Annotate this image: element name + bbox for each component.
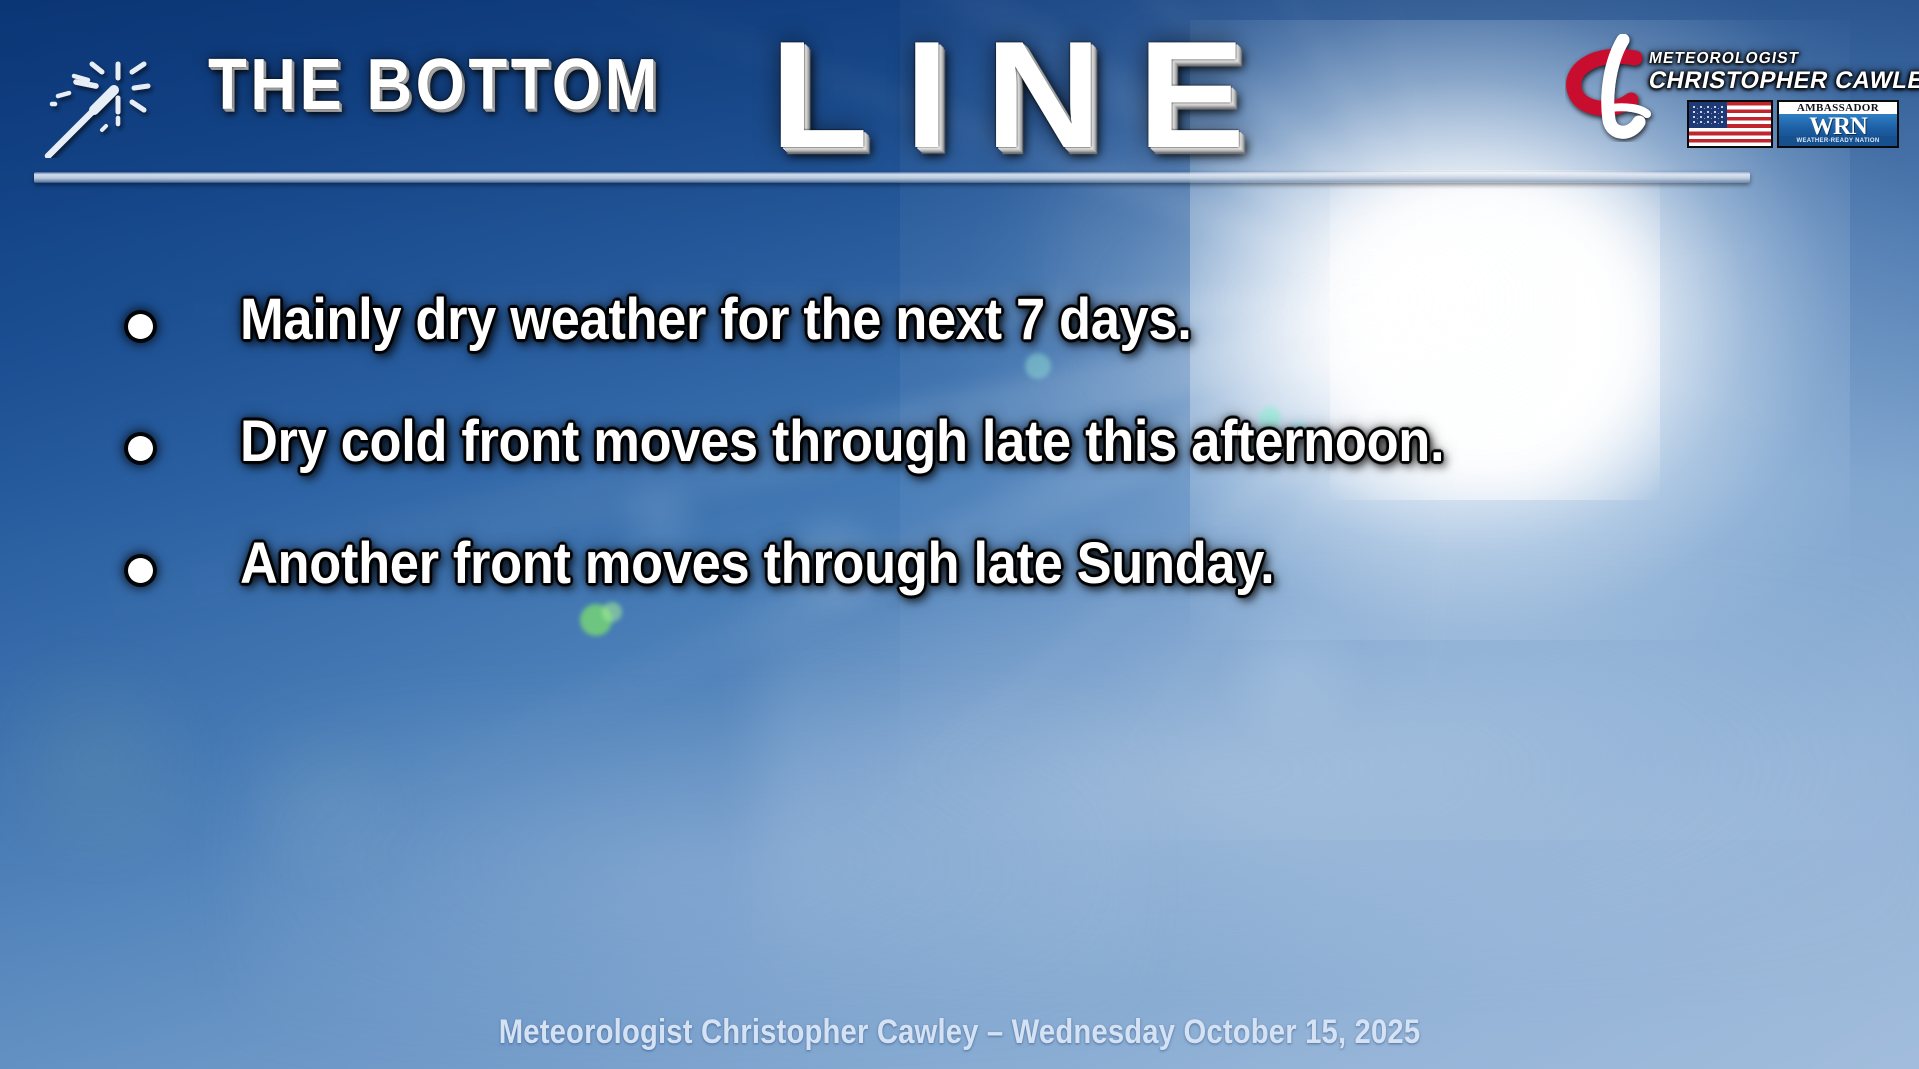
magic-wand-icon [36, 48, 164, 158]
wrn-tagline: WEATHER-READY NATION [1779, 136, 1897, 146]
badge-group: AMBASSADOR WRN WEATHER-READY NATION [1687, 100, 1903, 150]
wrn-ambassador-badge: AMBASSADOR WRN WEATHER-READY NATION [1777, 100, 1899, 148]
bullet-item: Another front moves through late Sunday. [0, 544, 1919, 666]
brand-person-name: CHRISTOPHER CAWLEY [1646, 67, 1919, 95]
bullet-text: Another front moves through late Sunday. [240, 530, 1274, 597]
slide-header: THE BOTTOM LINE [0, 0, 1919, 186]
bullet-text: Mainly dry weather for the next 7 days. [240, 286, 1191, 353]
us-flag-icon [1687, 100, 1773, 148]
bullet-marker-icon [128, 436, 153, 461]
header-divider [34, 172, 1750, 183]
header-title-line: LINE [770, 8, 1281, 183]
brand-role-label: METEOROLOGIST [1648, 50, 1801, 68]
header-title-bottom: THE BOTTOM [208, 44, 661, 126]
weather-slide: THE BOTTOM LINE [0, 0, 1919, 1069]
lens-flare-12 [240, 716, 420, 896]
bullet-text: Dry cold front moves through late this a… [240, 408, 1444, 475]
bullet-item: Mainly dry weather for the next 7 days. [0, 300, 1919, 422]
bullet-item: Dry cold front moves through late this a… [0, 422, 1919, 544]
bullet-list: Mainly dry weather for the next 7 days.D… [0, 300, 1919, 666]
bullet-marker-icon [128, 558, 153, 583]
bullet-marker-icon [128, 314, 153, 339]
brand-logo: METEOROLOGIST CHRISTOPHER CAWLEY AMBASSA… [1563, 24, 1903, 152]
footer-credit: Meteorologist Christopher Cawley – Wedne… [134, 1013, 1784, 1052]
